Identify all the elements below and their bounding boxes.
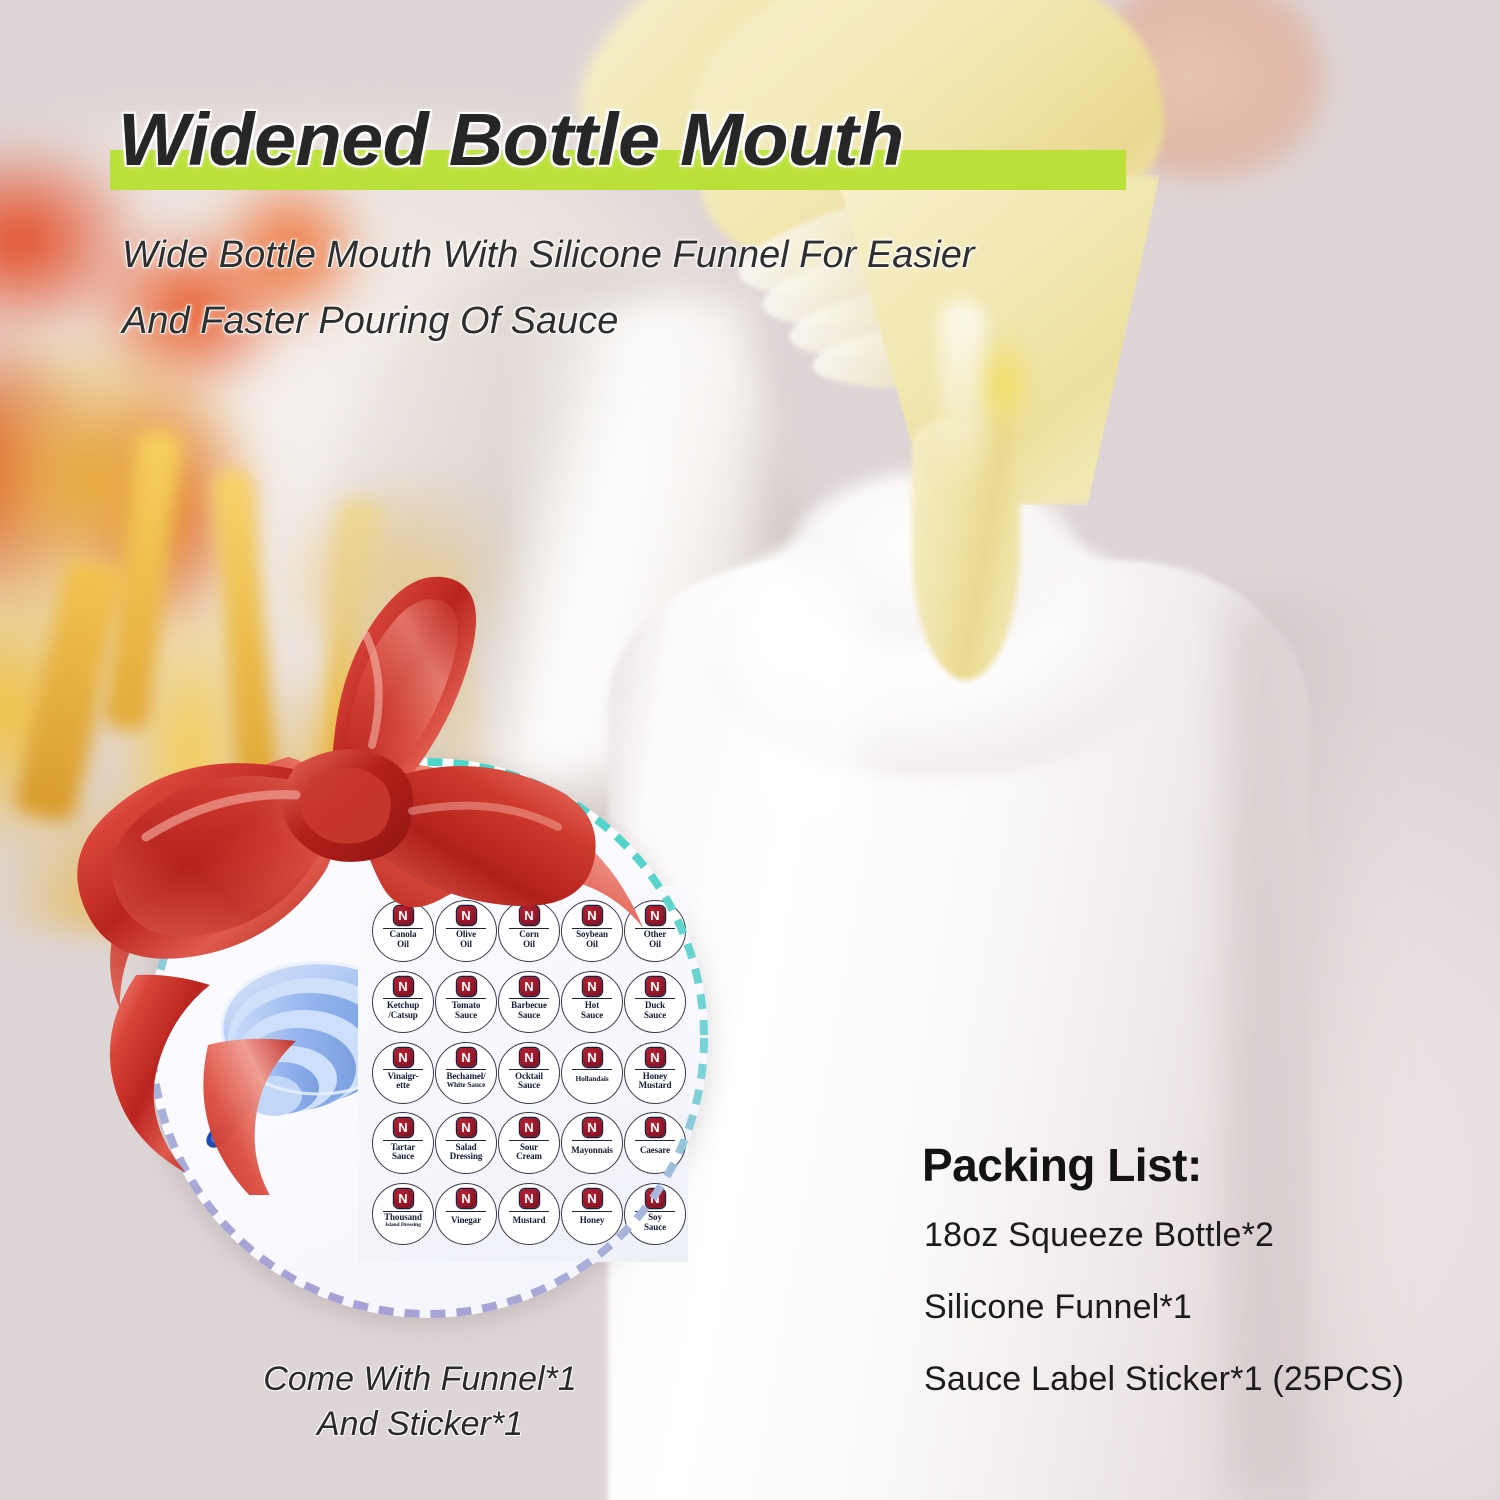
page-title: Widened Bottle Mouth xyxy=(118,97,904,182)
packing-list-item: Silicone Funnel*1 xyxy=(924,1288,1192,1327)
packing-list-title: Packing List: xyxy=(922,1138,1202,1192)
packing-list-item: Sauce Label Sticker*1 (25PCS) xyxy=(924,1360,1404,1399)
sauce-yellow-accent xyxy=(975,330,1035,440)
product-marketing-image: Widened Bottle Mouth Wide Bottle Mouth W… xyxy=(0,0,1500,1500)
packing-list-item: 18oz Squeeze Bottle*2 xyxy=(924,1216,1274,1255)
subtitle-line-1: Wide Bottle Mouth With Silicone Funnel F… xyxy=(122,234,975,277)
subtitle-line-2: And Faster Pouring Of Sauce xyxy=(122,300,618,343)
inset-caption-line-2: And Sticker*1 xyxy=(0,1405,840,1444)
bottle-gloss-highlight xyxy=(742,560,862,990)
inset-dashed-border xyxy=(148,758,708,1318)
inset-caption-line-1: Come With Funnel*1 xyxy=(0,1360,840,1399)
